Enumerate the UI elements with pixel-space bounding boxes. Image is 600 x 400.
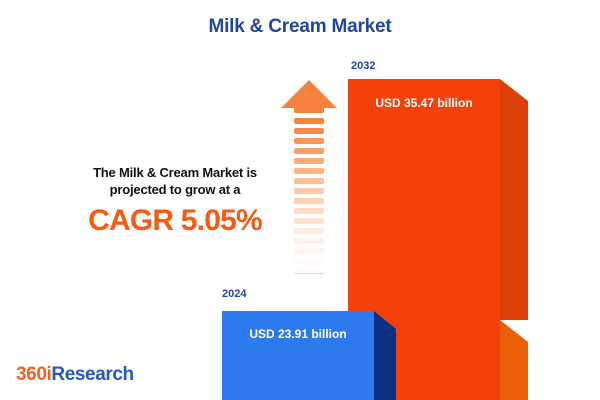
cagr-lead-line-2: projected to grow at a	[62, 181, 288, 198]
logo-text-research: Research	[51, 364, 133, 385]
logo-text-360i: 360i	[16, 364, 51, 385]
growth-arrow-icon	[281, 80, 337, 296]
arrow-stripe	[294, 218, 324, 224]
arrow-stripe	[294, 128, 324, 134]
arrow-stripe	[294, 238, 324, 244]
bar-2024-value-label: USD 23.91 billion	[222, 327, 374, 341]
arrow-head-shoulders	[294, 106, 324, 113]
arrow-head-triangle	[281, 80, 337, 108]
arrow-head-icon	[281, 80, 337, 112]
base-platform-top-bevel	[500, 320, 528, 342]
base-platform-side-face	[500, 342, 528, 400]
page-title: Milk & Cream Market	[0, 16, 600, 38]
arrow-stripe	[294, 198, 324, 204]
bar-2032-value-label: USD 35.47 billion	[348, 96, 500, 110]
brand-logo[interactable]: 360iResearch	[16, 364, 134, 386]
arrow-stripe	[294, 188, 324, 194]
arrow-stripe	[294, 288, 324, 294]
arrow-stripe	[294, 258, 324, 264]
arrow-stripe	[294, 148, 324, 154]
arrow-stripe	[294, 228, 324, 234]
infographic-canvas: Milk & Cream Market 2032 USD 35.47 billi…	[0, 0, 600, 400]
cagr-lead-text: The Milk & Cream Market is projected to …	[62, 164, 288, 198]
arrow-stripe	[294, 248, 324, 254]
arrow-stripe	[294, 178, 324, 184]
cagr-lead-line-1: The Milk & Cream Market is	[62, 164, 288, 181]
bar-2024-top-bevel	[374, 311, 396, 329]
arrow-stripe	[294, 168, 324, 174]
arrow-stripe	[294, 278, 324, 284]
arrow-stripe	[294, 208, 324, 214]
arrow-shaft-stripes	[294, 118, 324, 296]
cagr-callout: The Milk & Cream Market is projected to …	[62, 164, 288, 238]
bar-2024-front-face[interactable]	[222, 311, 374, 400]
bar-label-2032: 2032	[351, 60, 375, 72]
arrow-stripe	[294, 158, 324, 164]
arrow-highlight-line	[294, 273, 324, 274]
bar-label-2024: 2024	[222, 288, 246, 300]
arrow-stripe	[294, 138, 324, 144]
arrow-stripe	[294, 118, 324, 124]
cagr-value-text: CAGR 5.05%	[62, 204, 288, 238]
bar-2032-top-bevel	[500, 79, 528, 101]
bar-2024-side-face	[374, 329, 396, 400]
bar-2032-side-face	[500, 101, 528, 320]
